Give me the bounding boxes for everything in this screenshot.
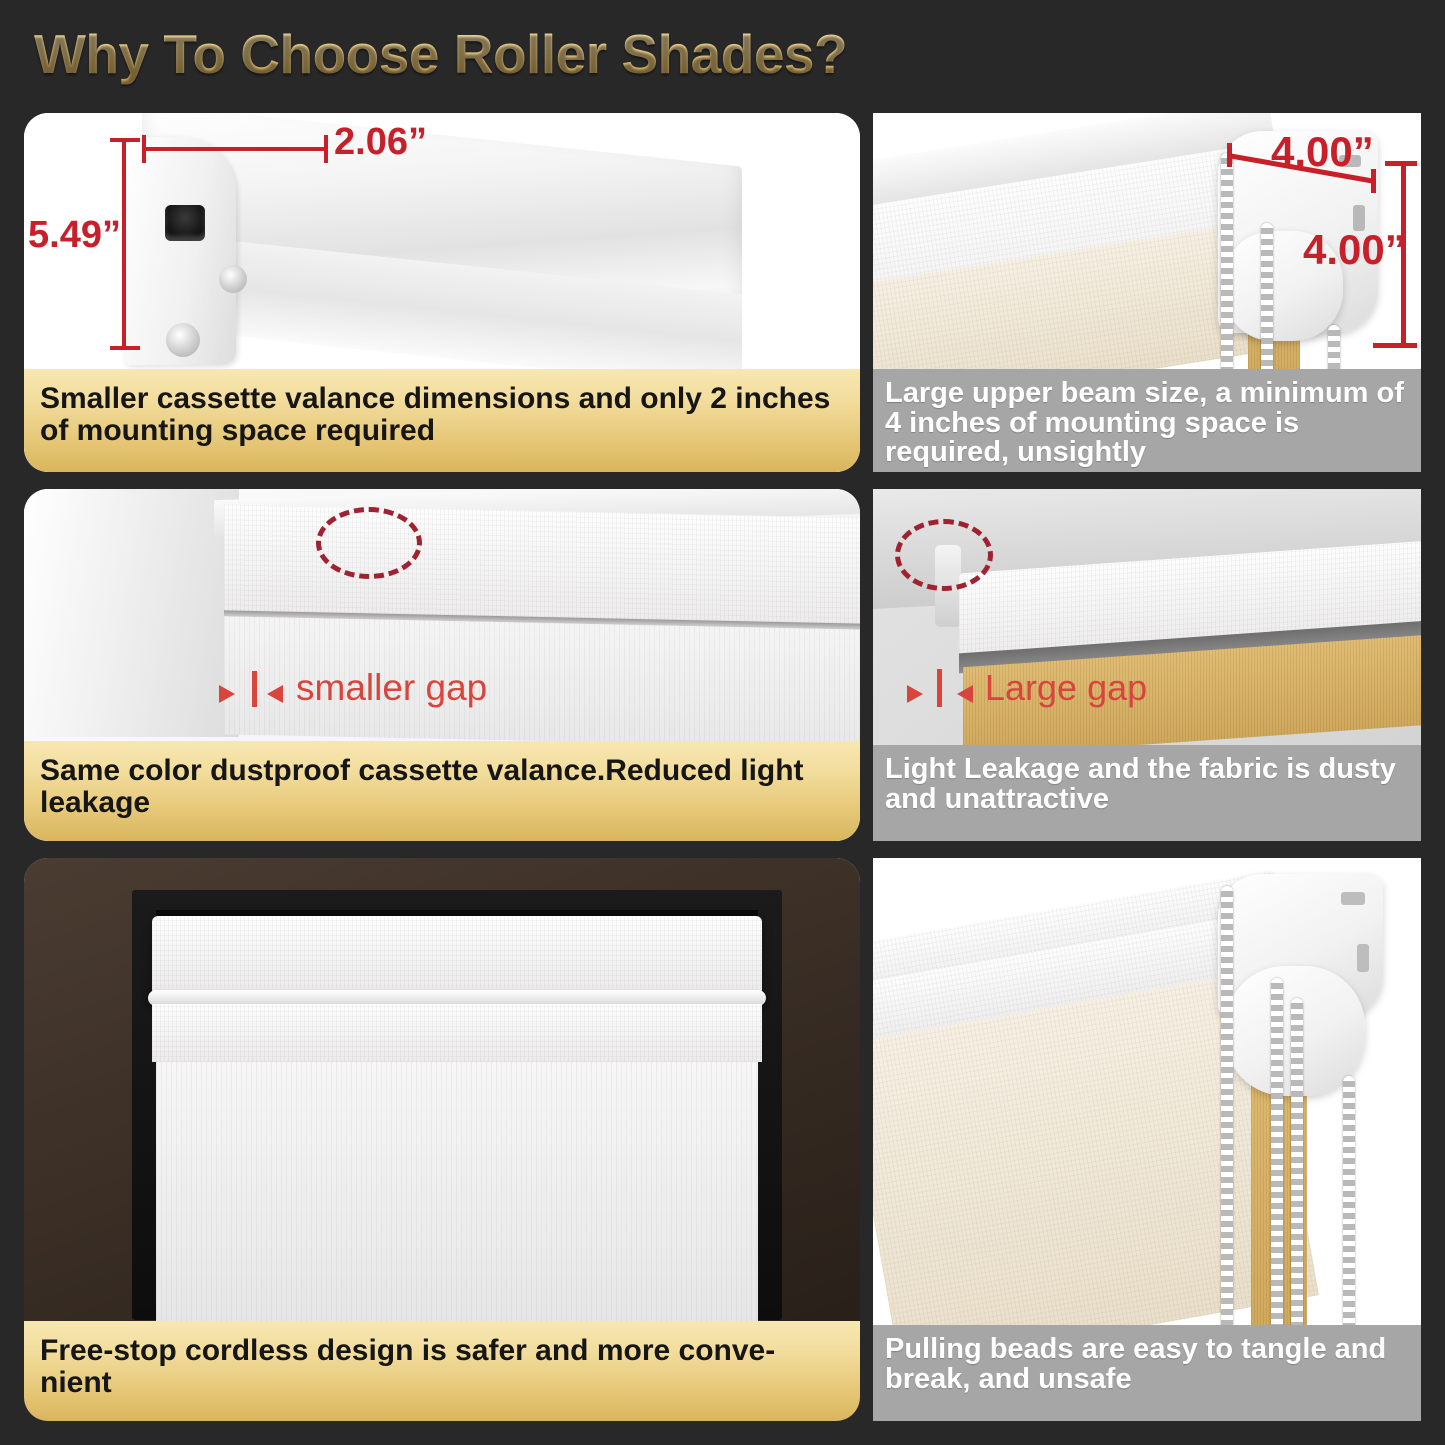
light-leak-highlight-ellipse [895,519,993,591]
infographic-page: Why To Choose Roller Shades? 5.49” 2.06”… [0,0,1445,1445]
panel-large-upper-beam: 4.00” 4.00” Large upper beam size, a min… [873,113,1421,472]
panel-3-caption: Same color dustproof cassette valance.Re… [24,741,860,841]
panel-6-caption: Pulling beads are easy to tangle and bre… [873,1325,1421,1421]
beam-width-dimension-label: 4.00” [1271,128,1374,176]
panel-cassette-valance-dimensions: 5.49” 2.06” Smaller cassette valance dim… [24,113,860,472]
pulling-bead-chain-4 [1343,1076,1355,1356]
panel-light-leakage-dusty-fabric: Large gap Light Leakage and the fabric i… [873,489,1421,841]
height-dimension-label: 5.49” [28,214,121,257]
large-gap-arrow-right [957,685,973,703]
gap-arrow-right [267,685,283,703]
width-dimension-line [142,147,328,151]
panel-2-caption: Large upper beam size, a minimum of 4 in… [873,369,1421,472]
window-trim-left [24,489,239,737]
valance-screw-lower [166,323,200,357]
height-dimension-tick-bottom [110,346,140,350]
head-rail [152,916,762,996]
large-gap-marker-bar [937,669,942,707]
beam-height-tick-bottom [1373,343,1417,348]
beam-width-tick-left [1227,143,1232,167]
panel-dustproof-cassette-valance: smaller gap Same color dustproof cassett… [24,489,860,841]
panel-free-stop-cordless-design: Free-stop cordless design is safer and m… [24,858,860,1421]
page-title: Why To Choose Roller Shades? [34,22,1134,92]
pulling-bead-chain-1 [1221,886,1233,1356]
panel-pulling-beads-tangle: Pulling beads are easy to tangle and bre… [873,858,1421,1421]
beam-height-tick-top [1385,161,1417,166]
height-dimension-line [122,138,126,350]
height-dimension-tick-top [110,138,140,142]
beam-height-dimension-label: 4.00” [1303,226,1406,274]
panel-4-caption: Light Leakage and the fabric is dusty an… [873,745,1421,841]
smaller-gap-label: smaller gap [296,667,487,709]
bracket-slot-b [1357,944,1369,972]
gap-marker-bar [252,671,257,707]
pulling-bead-chain-2 [1271,978,1283,1356]
gap-arrow-left [219,685,235,703]
large-gap-label: Large gap [985,667,1147,709]
large-gap-arrow-left [907,685,923,703]
bracket-slot-a [1341,892,1365,905]
valance-screw-upper [219,265,247,293]
bead-chain-1 [1221,153,1233,398]
head-rail-skirt [152,1004,762,1062]
width-dimension-label: 2.06” [334,121,427,164]
width-dimension-tick-right [324,135,328,163]
gap-highlight-ellipse [316,507,422,579]
valance-mount-slot [165,205,205,241]
panel-1-caption: Smaller cassette valance dimensions and … [24,369,860,472]
pulling-bead-chain-3 [1291,998,1303,1356]
panel-5-caption: Free-stop cordless design is safer and m… [24,1321,860,1421]
width-dimension-tick-left [142,135,146,163]
